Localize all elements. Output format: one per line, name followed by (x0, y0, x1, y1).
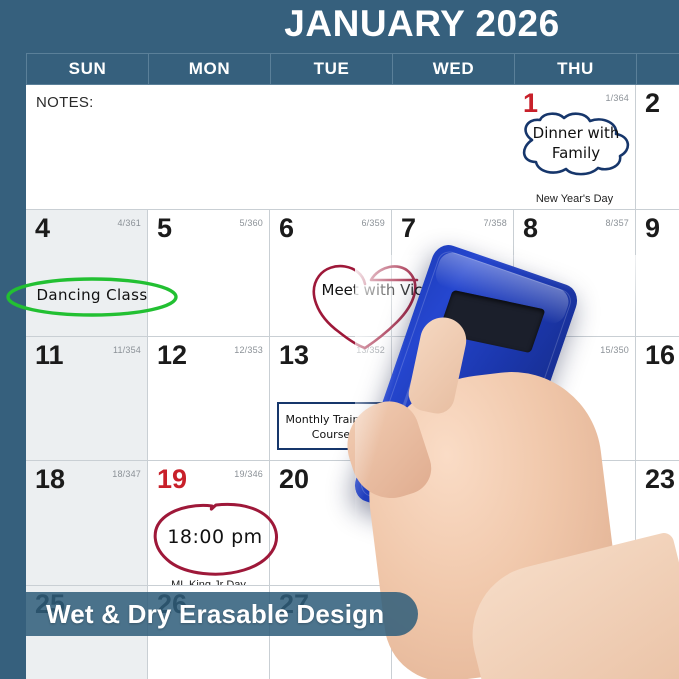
day-number: 15 (523, 342, 553, 369)
annotation-text: Dinner with Family (514, 123, 638, 163)
annotation-monthly-training-course: Monthly Training Course (277, 402, 383, 450)
day-of-year: 20/345 (356, 469, 385, 479)
weekday-header-thu: THU (514, 53, 636, 85)
heart-outline-icon (305, 258, 425, 348)
day-cell-21[interactable]: 21 (392, 461, 514, 585)
calendar-poster: JANUARY 2026 SUN MON TUE WED THU NOTES: … (0, 0, 679, 679)
day-cell-16[interactable]: 16 (636, 337, 679, 460)
day-cell-23[interactable]: 23 (636, 461, 679, 585)
annotation-meet-with-vic: Meet with Vic (305, 258, 425, 348)
day-number: 20 (279, 466, 309, 493)
day-number: 22 (523, 466, 553, 493)
day-cell-9[interactable]: 9 (636, 210, 679, 336)
holiday-label: New Year's Day (514, 193, 635, 205)
annotation-text: 18:00 pm (140, 526, 290, 548)
day-number: 11 (35, 342, 64, 369)
annotation-text: Dancing Class (4, 286, 180, 304)
weekday-header-fri (636, 53, 679, 85)
day-of-year: 18/347 (112, 469, 141, 479)
day-number: 9 (645, 215, 660, 242)
day-of-year: 19/346 (234, 469, 263, 479)
day-number: 5 (157, 215, 172, 242)
day-number: 19 (157, 466, 187, 493)
annotation-dinner-with-family: Dinner with Family (510, 110, 640, 178)
annotation-text: Meet with Vic (319, 280, 425, 301)
week-row-4: 18 18/347 19 19/346 ML King Jr Day 20 20… (26, 461, 679, 586)
weekday-header-row: SUN MON TUE WED THU (26, 53, 679, 85)
day-number: 21 (401, 466, 431, 493)
feature-banner-text: Wet & Dry Erasable Design (26, 599, 384, 630)
annotation-text: Monthly Training Course (281, 412, 381, 442)
day-of-year: 6/359 (361, 218, 385, 228)
day-number: 8 (523, 215, 538, 242)
page-title: JANUARY 2026 (0, 2, 679, 46)
day-of-year: 4/361 (117, 218, 141, 228)
day-of-year: 1/364 (605, 93, 629, 103)
day-cell-30[interactable] (636, 586, 679, 679)
weekday-header-wed: WED (392, 53, 514, 85)
day-cell-22[interactable]: 22 (514, 461, 636, 585)
notes-block[interactable]: NOTES: (26, 85, 515, 209)
day-cell-8[interactable]: 8 8/357 (514, 210, 636, 336)
day-number: 12 (157, 342, 187, 369)
day-of-year: 12/353 (234, 345, 263, 355)
day-number: 23 (645, 466, 675, 493)
day-cell-29[interactable]: 29 (514, 586, 636, 679)
day-number: 6 (279, 215, 294, 242)
day-of-year: 15/350 (600, 345, 629, 355)
weekday-header-tue: TUE (270, 53, 392, 85)
day-of-year: 5/360 (239, 218, 263, 228)
day-cell-18[interactable]: 18 18/347 (26, 461, 148, 585)
day-number: 29 (523, 591, 553, 618)
day-of-year: 28/337 (478, 594, 507, 604)
holiday-label: ML King Jr Day (148, 579, 269, 585)
day-number: 2 (645, 90, 660, 117)
annotation-dancing-class: Dancing Class (4, 276, 180, 318)
day-number: 18 (35, 466, 65, 493)
annotation-time: 18:00 pm (140, 500, 290, 575)
weekday-header-mon: MON (148, 53, 270, 85)
notes-label: NOTES: (36, 94, 94, 111)
day-cell-14[interactable]: 14 (392, 337, 514, 460)
day-cell-12[interactable]: 12 12/353 (148, 337, 270, 460)
day-of-year: 7/358 (483, 218, 507, 228)
day-number: 16 (645, 342, 675, 369)
weekday-header-sun: SUN (26, 53, 148, 85)
day-number: 4 (35, 215, 50, 242)
day-cell-15[interactable]: 15 15/350 (514, 337, 636, 460)
day-cell-2[interactable]: 2 (636, 85, 679, 209)
day-number: 7 (401, 215, 416, 242)
day-of-year: 8/357 (605, 218, 629, 228)
day-of-year: 11/354 (113, 345, 141, 355)
day-cell-11[interactable]: 11 11/354 (26, 337, 148, 460)
feature-banner: Wet & Dry Erasable Design (26, 592, 418, 636)
